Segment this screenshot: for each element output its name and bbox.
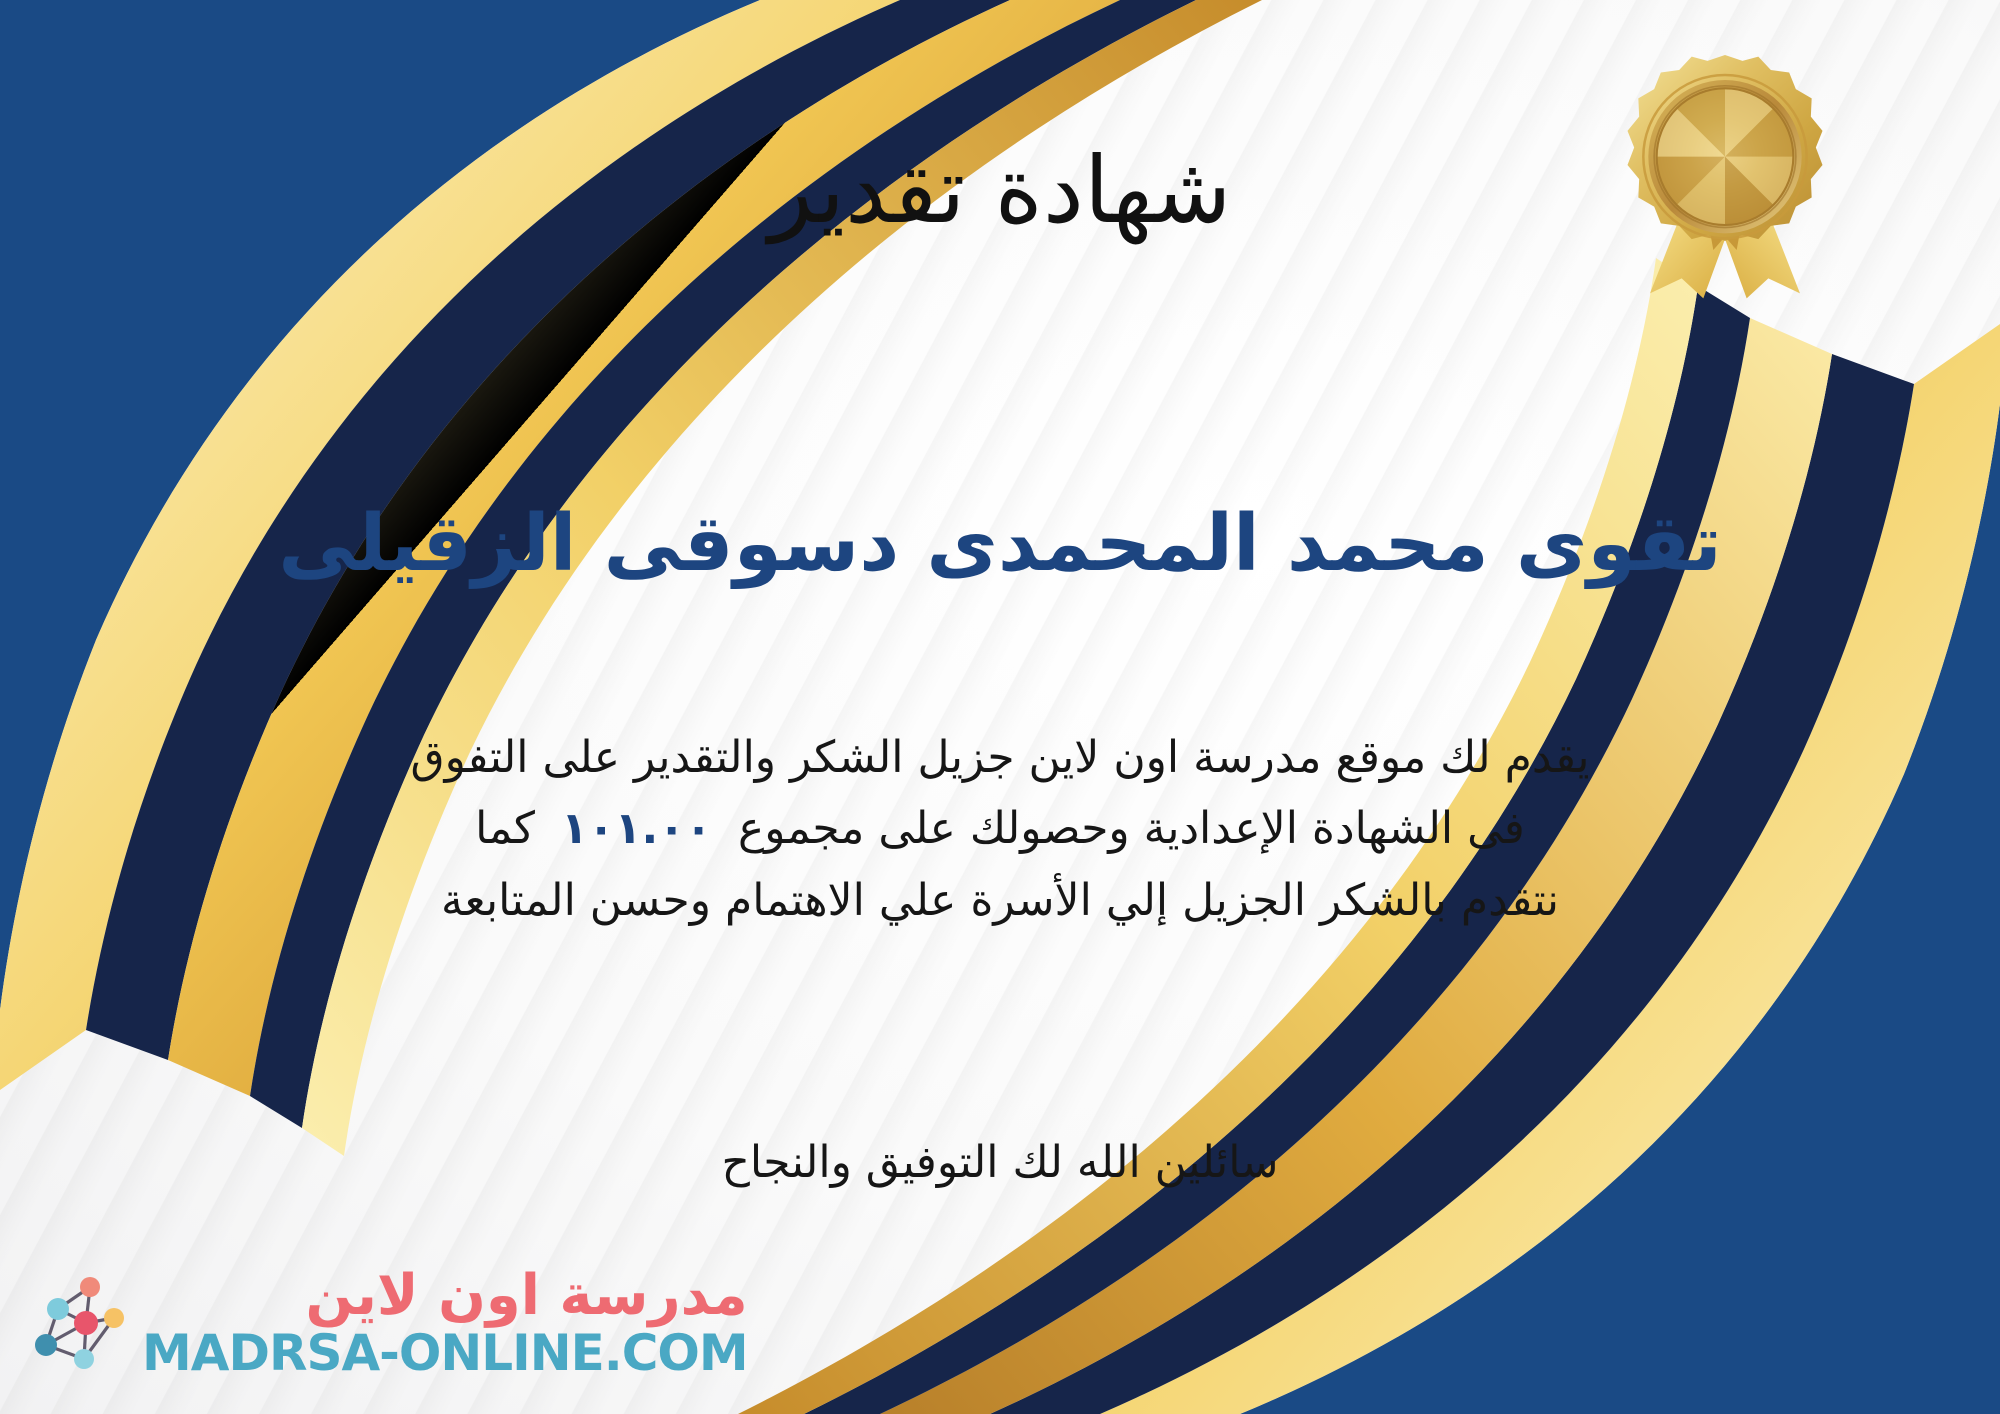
brand-arabic-name: مدرسة اون لاين [305,1268,747,1324]
body-line-3: نتقدم بالشكر الجزيل إلي الأسرة علي الاهت… [70,865,1930,936]
total-score-value: ١٠١.٠٠ [535,803,738,854]
certificate-page: شهادة تقدير تقوى محمد المحمدى دسوقى الزق… [0,0,2000,1414]
brand-text: مدرسة اون لاين MADRSA-ONLINE.COM [142,1268,748,1378]
closing-wish: سائلين الله لك التوفيق والنجاح [0,1130,2000,1196]
certificate-title: شهادة تقدير [0,140,2000,241]
body-line-2-prefix: فى الشهادة الإعدادية وحصولك على مجموع [738,803,1525,854]
brand-logo[interactable]: مدرسة اون لاين MADRSA-ONLINE.COM [28,1268,748,1378]
body-line-2: فى الشهادة الإعدادية وحصولك على مجموع١٠١… [70,793,1930,864]
recipient-name: تقوى محمد المحمدى دسوقى الزقيلى [0,500,2000,590]
certificate-body: يقدم لك موقع مدرسة اون لاين جزيل الشكر و… [70,722,1930,936]
brand-website[interactable]: MADRSA-ONLINE.COM [142,1328,748,1378]
body-line-1: يقدم لك موقع مدرسة اون لاين جزيل الشكر و… [70,722,1930,793]
network-nodes-icon [28,1271,128,1375]
body-line-2-suffix: كما [475,803,535,854]
